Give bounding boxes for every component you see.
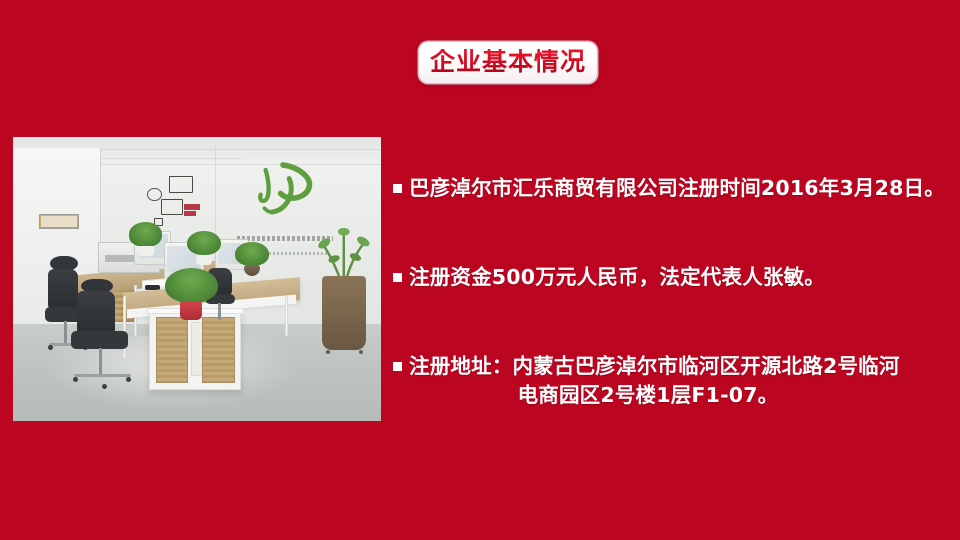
square-bullet-icon <box>393 273 402 282</box>
chair-post <box>99 348 102 374</box>
chair-seat <box>71 331 128 349</box>
plant-leaves <box>165 268 218 304</box>
chair-wheel <box>48 345 53 350</box>
potted-plant <box>234 242 271 276</box>
square-bullet-icon <box>393 362 402 371</box>
cabinet-door <box>156 317 188 382</box>
chair-backrest <box>77 291 114 334</box>
photo-scene <box>13 137 381 421</box>
bullet-item-capital: 注册资金500万元人民币，法定代表人张敏。 <box>393 264 945 290</box>
plant-leaves <box>187 231 221 256</box>
planter-caster <box>359 350 363 354</box>
plant-leaves <box>129 222 163 247</box>
chair-wheel <box>73 377 78 382</box>
tall-planter-pot <box>322 276 366 350</box>
plant-leaves <box>235 242 269 266</box>
bullet-list: 巴彦淖尔市汇乐商贸有限公司注册时间2016年3月28日。 注册资金500万元人民… <box>393 175 945 408</box>
office-chair <box>65 279 146 398</box>
potted-plant-red <box>164 268 219 322</box>
wall-decal-accent <box>184 211 196 215</box>
plant-pot <box>244 265 260 276</box>
planter-caster <box>326 350 330 354</box>
bullet-text: 注册地址：内蒙古巴彦淖尔市临河区开源北路2号临河 <box>409 354 900 378</box>
bullet-text: 注册资金500万元人民币，法定代表人张敏。 <box>409 265 825 289</box>
plant-pot <box>137 246 153 256</box>
wall-decal-accent <box>184 204 199 210</box>
bullet-text-line2: 电商园区2号楼1层F1-07。 <box>393 382 945 408</box>
desk-leg <box>285 296 288 336</box>
plant-pot <box>196 255 212 265</box>
chair-wheel <box>126 377 131 382</box>
wall-frame <box>39 214 79 230</box>
page-title: 企业基本情况 <box>430 49 586 76</box>
cabinet-door <box>202 317 234 382</box>
bullet-item-address: 注册地址：内蒙古巴彦淖尔市临河区开源北路2号临河 电商园区2号楼1层F1-07。 <box>393 353 945 407</box>
bullet-item-registration-date: 巴彦淖尔市汇乐商贸有限公司注册时间2016年3月28日。 <box>393 175 945 201</box>
wall-decal-circle <box>147 188 162 202</box>
slide-canvas: 企业基本情况 <box>0 0 960 540</box>
wall-frame-inner <box>41 216 77 228</box>
chair-base <box>74 374 131 377</box>
square-bullet-icon <box>393 184 402 193</box>
potted-plant <box>186 231 223 265</box>
company-logo-icon <box>245 160 326 228</box>
office-interior-photo <box>13 137 381 421</box>
title-banner: 企业基本情况 <box>419 42 597 83</box>
monitor-stand <box>145 265 163 269</box>
chair-wheel <box>102 384 107 389</box>
plant-pot-red <box>180 302 202 320</box>
wall-decal-box <box>161 199 183 215</box>
wall-decal-box <box>169 176 193 192</box>
potted-plant <box>127 222 164 256</box>
bullet-text: 巴彦淖尔市汇乐商贸有限公司注册时间2016年3月28日。 <box>409 176 945 200</box>
